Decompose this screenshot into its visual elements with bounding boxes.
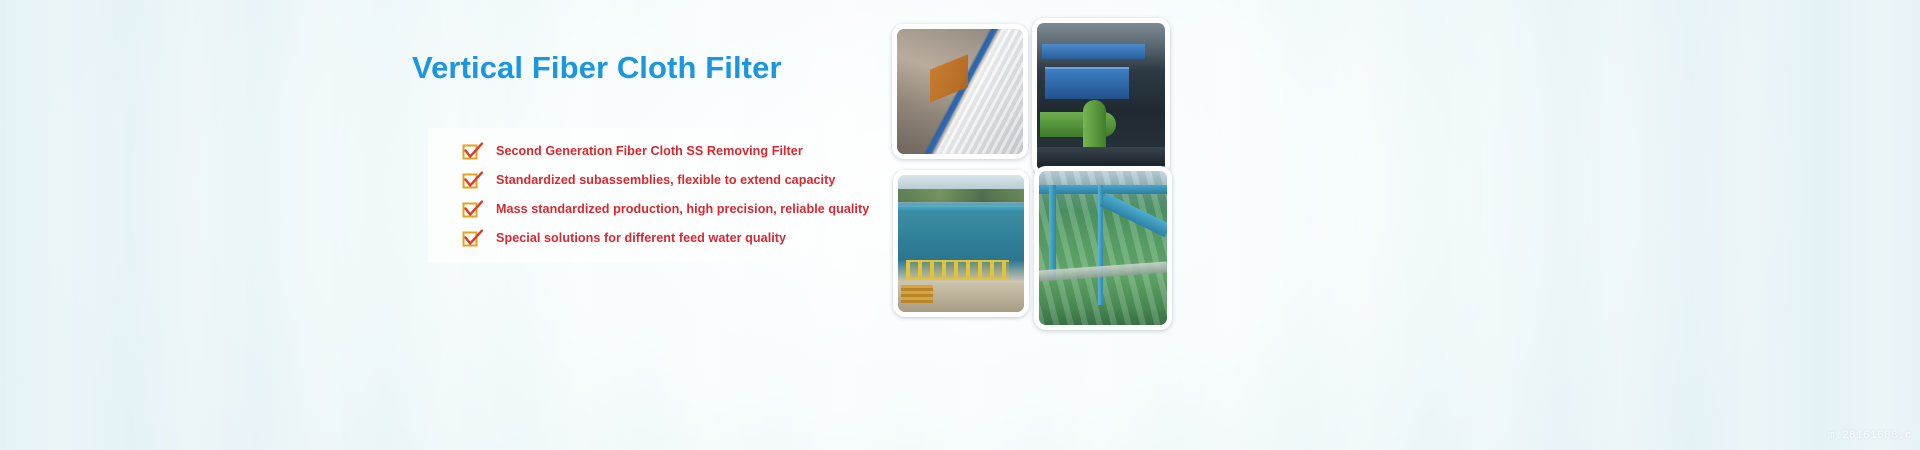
checkbox-checked-icon bbox=[462, 228, 484, 248]
checkbox-checked-icon bbox=[462, 170, 484, 190]
feature-list: Second Generation Fiber Cloth SS Removin… bbox=[428, 128, 888, 262]
photo-steel-tanks bbox=[893, 170, 1029, 317]
list-item: Mass standardized production, high preci… bbox=[428, 194, 888, 223]
photo-tank-machinery bbox=[1032, 18, 1170, 176]
banner-text-column: Vertical Fiber Cloth Filter Second Gener… bbox=[412, 50, 882, 86]
page-title: Vertical Fiber Cloth Filter bbox=[412, 50, 882, 86]
list-item-label: Mass standardized production, high preci… bbox=[496, 202, 869, 216]
watermark: m.28161688.c bbox=[1828, 430, 1912, 442]
list-item-label: Special solutions for different feed wat… bbox=[496, 231, 786, 245]
list-item: Special solutions for different feed wat… bbox=[428, 223, 888, 252]
photo-collage bbox=[890, 18, 1180, 310]
product-banner: Vertical Fiber Cloth Filter Second Gener… bbox=[0, 0, 1920, 450]
list-item: Second Generation Fiber Cloth SS Removin… bbox=[428, 136, 888, 165]
checkbox-checked-icon bbox=[462, 199, 484, 219]
photo-algae-basin bbox=[1034, 166, 1172, 330]
checkbox-checked-icon bbox=[462, 141, 484, 161]
list-item-label: Standardized subassemblies, flexible to … bbox=[496, 173, 835, 187]
list-item: Standardized subassemblies, flexible to … bbox=[428, 165, 888, 194]
list-item-label: Second Generation Fiber Cloth SS Removin… bbox=[496, 144, 803, 158]
photo-lamella-basin bbox=[892, 24, 1028, 159]
